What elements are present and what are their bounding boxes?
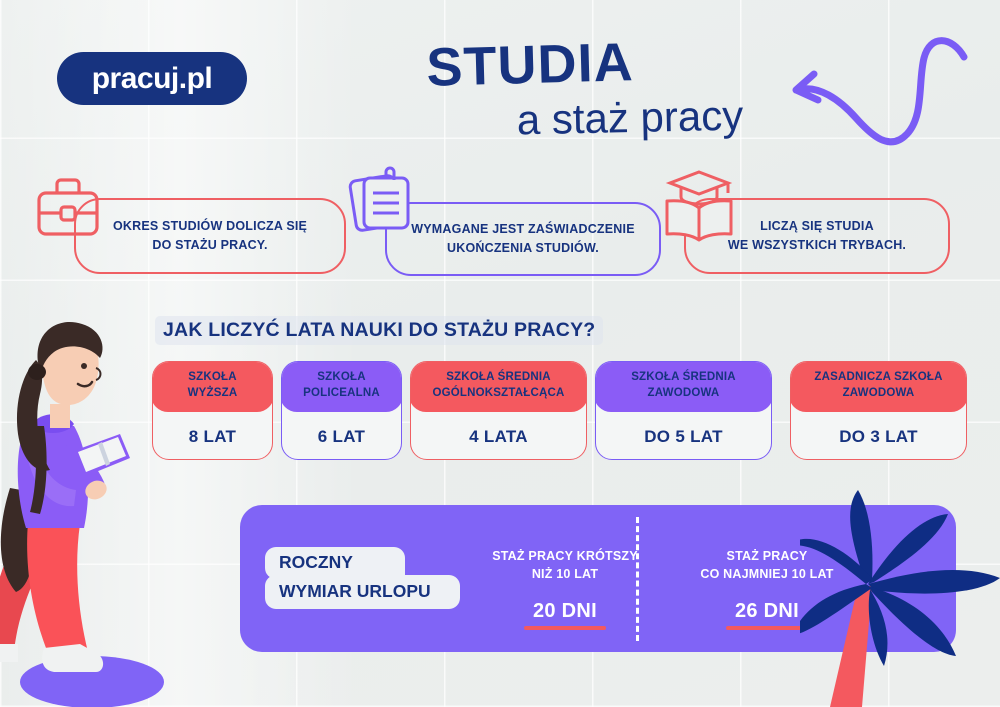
school-card-1-header: SZKOŁA POLICEALNA — [281, 361, 402, 412]
info-box-1-line2: DO STAŻU PRACY. — [113, 236, 307, 255]
school-card-4-line2: ZAWODOWA — [814, 386, 942, 402]
school-card-4-line1: ZASADNICZA SZKOŁA — [814, 370, 942, 386]
school-card-1: SZKOŁA POLICEALNA 6 LAT — [281, 361, 402, 460]
leave-stat-0-line2: NIŻ 10 LAT — [470, 565, 660, 583]
page-title: STUDIA — [399, 30, 661, 99]
school-card-2-line2: OGÓLNOKSZTAŁCĄCA — [432, 386, 564, 402]
student-illustration — [0, 300, 182, 707]
school-card-2: SZKOŁA ŚREDNIA OGÓLNOKSZTAŁCĄCA 4 LATA — [410, 361, 587, 460]
infographic-canvas: pracuj.pl STUDIA a staż pracy OKRES STUD… — [0, 0, 1000, 707]
school-card-4: ZASADNICZA SZKOŁA ZAWODOWA DO 3 LAT — [790, 361, 967, 460]
documents-icon — [347, 166, 425, 240]
info-box-1-line1: OKRES STUDIÓW DOLICZA SIĘ — [113, 217, 307, 236]
school-card-4-header: ZASADNICZA SZKOŁA ZAWODOWA — [790, 361, 967, 412]
school-card-0-line2: WYŻSZA — [188, 386, 238, 402]
squiggly-arrow-icon — [752, 24, 972, 154]
leave-stat-0-line1: STAŻ PRACY KRÓTSZY — [470, 547, 660, 565]
school-card-3: SZKOŁA ŚREDNIA ZAWODOWA DO 5 LAT — [595, 361, 772, 460]
palm-tree-icon — [800, 488, 1000, 707]
badge-line1: ROCZNY — [279, 551, 353, 575]
pracuj-logo: pracuj.pl — [57, 52, 247, 105]
section-heading: JAK LICZYĆ LATA NAUKI DO STAŻU PRACY? — [155, 316, 603, 345]
school-card-3-line1: SZKOŁA ŚREDNIA — [631, 370, 736, 386]
info-box-2: WYMAGANE JEST ZAŚWIADCZENIE UKOŃCZENIA S… — [385, 202, 661, 276]
school-card-2-header: SZKOŁA ŚREDNIA OGÓLNOKSZTAŁCĄCA — [410, 361, 587, 412]
info-box-2-line1: WYMAGANE JEST ZAŚWIADCZENIE — [411, 220, 634, 239]
book-graduation-cap-icon — [656, 166, 742, 244]
school-card-2-years: 4 LATA — [411, 414, 586, 459]
school-card-1-line2: POLICEALNA — [303, 386, 380, 402]
school-card-3-header: SZKOŁA ŚREDNIA ZAWODOWA — [595, 361, 772, 412]
info-box-3-line2: WE WSZYSTKICH TRYBACH. — [728, 236, 906, 255]
school-card-0-line1: SZKOŁA — [188, 370, 238, 386]
logo-text: pracuj.pl — [92, 62, 213, 96]
school-card-3-line2: ZAWODOWA — [631, 386, 736, 402]
annual-leave-badge: ROCZNY WYMIAR URLOPU — [265, 547, 460, 609]
badge-line2: WYMIAR URLOPU — [279, 580, 431, 604]
leave-stat-0-value: 20 DNI — [533, 600, 597, 623]
info-box-3-line1: LICZĄ SIĘ STUDIA — [728, 217, 906, 236]
briefcase-icon — [32, 172, 104, 240]
school-card-1-years: 6 LAT — [282, 414, 401, 459]
page-subtitle: a staż pracy — [500, 91, 761, 144]
panel-divider — [636, 517, 639, 641]
school-card-2-line1: SZKOŁA ŚREDNIA — [432, 370, 564, 386]
school-card-1-line1: SZKOŁA — [303, 370, 380, 386]
info-box-2-line2: UKOŃCZENIA STUDIÓW. — [411, 239, 634, 258]
info-box-1: OKRES STUDIÓW DOLICZA SIĘ DO STAŻU PRACY… — [74, 198, 346, 274]
school-card-3-years: DO 5 LAT — [596, 414, 771, 459]
leave-stat-1-value: 26 DNI — [735, 600, 799, 623]
leave-stat-0: STAŻ PRACY KRÓTSZY NIŻ 10 LAT 20 DNI — [470, 547, 660, 623]
school-card-4-years: DO 3 LAT — [791, 414, 966, 459]
